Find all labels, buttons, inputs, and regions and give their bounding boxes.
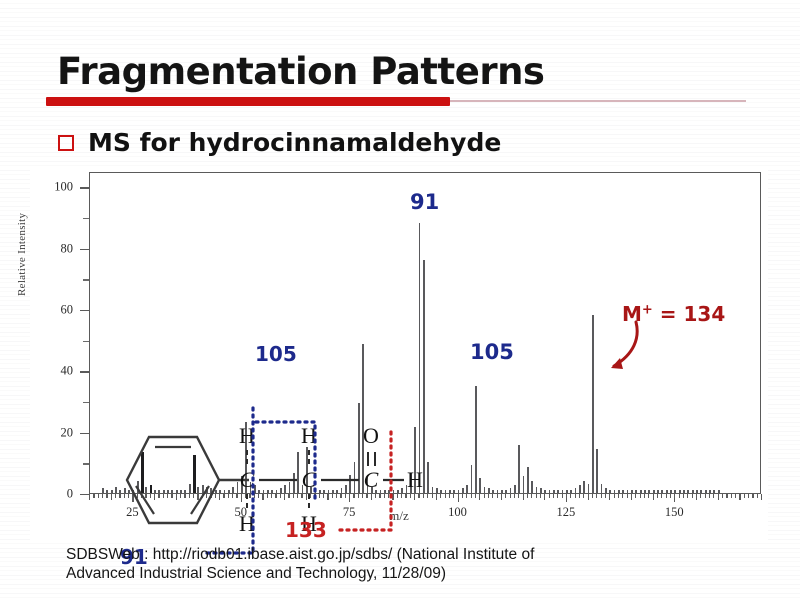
x-axis-minor-tick [713, 494, 714, 498]
x-axis-minor-tick [588, 494, 589, 500]
title-divider-accent [46, 97, 450, 106]
x-axis-minor-tick [505, 494, 506, 498]
spectrum-peak [635, 490, 637, 493]
x-axis-minor-tick [527, 494, 528, 498]
x-axis-minor-tick [562, 494, 563, 498]
x-axis-minor-tick [609, 494, 610, 500]
x-axis-minor-tick [583, 494, 584, 498]
spectrum-peak [696, 490, 698, 493]
spectrum-peak [605, 488, 607, 493]
spectrum-peak [601, 484, 603, 493]
spectrum-peak [644, 490, 646, 493]
x-axis-minor-tick [497, 494, 498, 498]
x-axis-minor-tick [731, 494, 732, 498]
title-divider-tail [450, 100, 746, 102]
x-axis-minor-tick [666, 494, 667, 498]
fragment-label-105: 105 [255, 342, 297, 366]
x-axis-minor-tick [640, 494, 641, 498]
x-axis-minor-tick [592, 494, 593, 498]
spectrum-peak [531, 481, 533, 493]
spectrum-peak [505, 490, 507, 493]
x-axis-minor-tick [553, 494, 554, 498]
spectrum-peak [666, 490, 668, 493]
spectrum-peak [497, 490, 499, 493]
x-axis-minor-tick [757, 494, 758, 498]
spectrum-peak [609, 490, 611, 493]
x-axis-minor-tick [575, 494, 576, 498]
x-axis-minor-tick [514, 494, 515, 498]
x-axis-tick-label: 150 [665, 505, 684, 520]
x-axis-minor-tick [670, 494, 671, 498]
spectrum-peak [705, 490, 707, 493]
spectrum-peak [648, 490, 650, 493]
x-axis-tick [674, 494, 675, 502]
x-axis-minor-tick [687, 494, 688, 498]
spectrum-peak [510, 488, 512, 493]
spectrum-peak [544, 490, 546, 493]
spectrum-peak [501, 490, 503, 493]
x-axis-minor-tick [618, 494, 619, 498]
x-axis-minor-tick [614, 494, 615, 498]
x-axis-minor-tick [679, 494, 680, 498]
x-axis-minor-tick [657, 494, 658, 498]
spectrum-peak [700, 490, 702, 493]
bullet-item: MS for hydrocinnamaldehyde [58, 128, 501, 157]
spectrum-peak [575, 488, 577, 493]
spectrum-peak [661, 490, 663, 493]
spectrum-peak [713, 490, 715, 493]
spectrum-peak [583, 481, 585, 493]
x-axis-minor-tick [557, 494, 558, 498]
x-axis-minor-tick [752, 494, 753, 498]
spectrum-peak [631, 490, 633, 493]
spectrum-peak [627, 490, 629, 493]
x-axis-minor-tick [653, 494, 654, 500]
y-axis-tick [80, 310, 89, 311]
x-axis-minor-tick [648, 494, 649, 498]
x-axis-minor-tick [531, 494, 532, 498]
mass-spectrum-figure: Relative Intensity 020406080100 25507510… [30, 168, 768, 540]
x-axis-minor-tick [735, 494, 736, 498]
bullet-item-label: MS for hydrocinnamaldehyde [88, 128, 501, 157]
x-axis-minor-tick [627, 494, 628, 498]
x-axis-minor-tick [761, 494, 762, 500]
x-axis-minor-tick [605, 494, 606, 498]
x-axis-minor-tick [544, 494, 545, 500]
x-axis-minor-tick [536, 494, 537, 498]
spectrum-peak [687, 490, 689, 493]
x-axis-minor-tick [748, 494, 749, 498]
x-axis-minor-tick [692, 494, 693, 498]
spectrum-peak [670, 490, 672, 493]
x-axis-minor-tick [549, 494, 550, 498]
spectrum-peak [518, 445, 520, 493]
spectrum-peak [596, 449, 598, 493]
spectrum-peak [549, 490, 551, 493]
spectrum-peak [622, 490, 624, 493]
y-axis-label: Relative Intensity [16, 213, 28, 296]
x-axis-minor-tick [683, 494, 684, 498]
spectrum-peak [536, 487, 538, 493]
x-axis-minor-tick [705, 494, 706, 498]
spectrum-peak [640, 490, 642, 493]
square-bullet-icon [58, 135, 74, 151]
spectrum-peak [618, 490, 620, 493]
source-footer-line-1: SDBSWeb : http://riodb01.ibase.aist.go.j… [66, 545, 746, 564]
x-axis-minor-tick [579, 494, 580, 498]
x-axis-minor-tick [570, 494, 571, 498]
spectrum-peak [683, 490, 685, 493]
x-axis-minor-tick [744, 494, 745, 498]
x-axis-minor-tick [644, 494, 645, 498]
spectrum-peak [553, 490, 555, 493]
x-axis-minor-tick [661, 494, 662, 498]
spectrum-peak [709, 490, 711, 493]
x-axis-minor-tick [523, 494, 524, 500]
x-axis-tick [566, 494, 567, 502]
molecular-ion-arrow-icon [600, 318, 670, 380]
x-axis-minor-tick [709, 494, 710, 498]
y-axis-tick [80, 249, 89, 250]
x-axis-minor-tick [726, 494, 727, 498]
x-axis-minor-tick [596, 494, 597, 498]
x-axis-minor-tick [510, 494, 511, 498]
x-axis-minor-tick [635, 494, 636, 498]
source-footer: SDBSWeb : http://riodb01.ibase.aist.go.j… [66, 545, 746, 584]
spectrum-peak [588, 484, 590, 493]
spectrum-peak [562, 490, 564, 493]
spectrum-peak [527, 467, 529, 493]
spectrum-peak [692, 490, 694, 493]
x-axis-minor-tick [622, 494, 623, 498]
spectrum-peak [570, 490, 572, 493]
spectrum-peak [614, 490, 616, 493]
title-divider [46, 97, 746, 106]
spectrum-peak [579, 485, 581, 493]
spectrum-peak [540, 488, 542, 493]
x-axis-minor-tick [492, 494, 493, 498]
x-axis-minor-tick [739, 494, 740, 500]
x-axis-minor-tick [501, 494, 502, 500]
spectrum-peak [718, 490, 720, 493]
x-axis-minor-tick [601, 494, 602, 498]
y-axis-tick-label: 60 [30, 303, 73, 318]
x-axis-minor-tick [722, 494, 723, 498]
page-title: Fragmentation Patterns [57, 50, 544, 93]
spectrum-peak [679, 490, 681, 493]
spectrum-peak [566, 490, 568, 493]
spectrum-peak [514, 485, 516, 493]
spectrum-peak [657, 490, 659, 493]
x-axis-minor-tick [488, 494, 489, 498]
x-axis-minor-tick [718, 494, 719, 500]
spectrum-peak [492, 490, 494, 493]
spectrum-peak [523, 476, 525, 493]
y-axis-tick-label: 100 [30, 180, 73, 195]
x-axis-minor-tick [696, 494, 697, 500]
x-axis-minor-tick [700, 494, 701, 498]
x-axis-tick-label: 125 [557, 505, 576, 520]
molecular-structure-diagram: HHOCCCHHH 105 91 133 [125, 408, 405, 553]
source-footer-line-2: Advanced Industrial Science and Technolo… [66, 564, 746, 583]
molecular-ion-charge: + [642, 302, 653, 317]
y-axis-tick [80, 187, 89, 188]
fragment-label-133: 133 [285, 518, 327, 542]
spectrum-peak [653, 490, 655, 493]
spectrum-peak [488, 488, 490, 493]
x-axis-minor-tick [631, 494, 632, 500]
spectrum-peak [674, 490, 676, 493]
x-axis-minor-tick [540, 494, 541, 498]
peak-label-91: 91 [410, 190, 439, 214]
spectrum-peak [592, 315, 594, 493]
y-axis-tick-label: 80 [30, 241, 73, 256]
x-axis-minor-tick [518, 494, 519, 498]
spectrum-peak [557, 490, 559, 493]
